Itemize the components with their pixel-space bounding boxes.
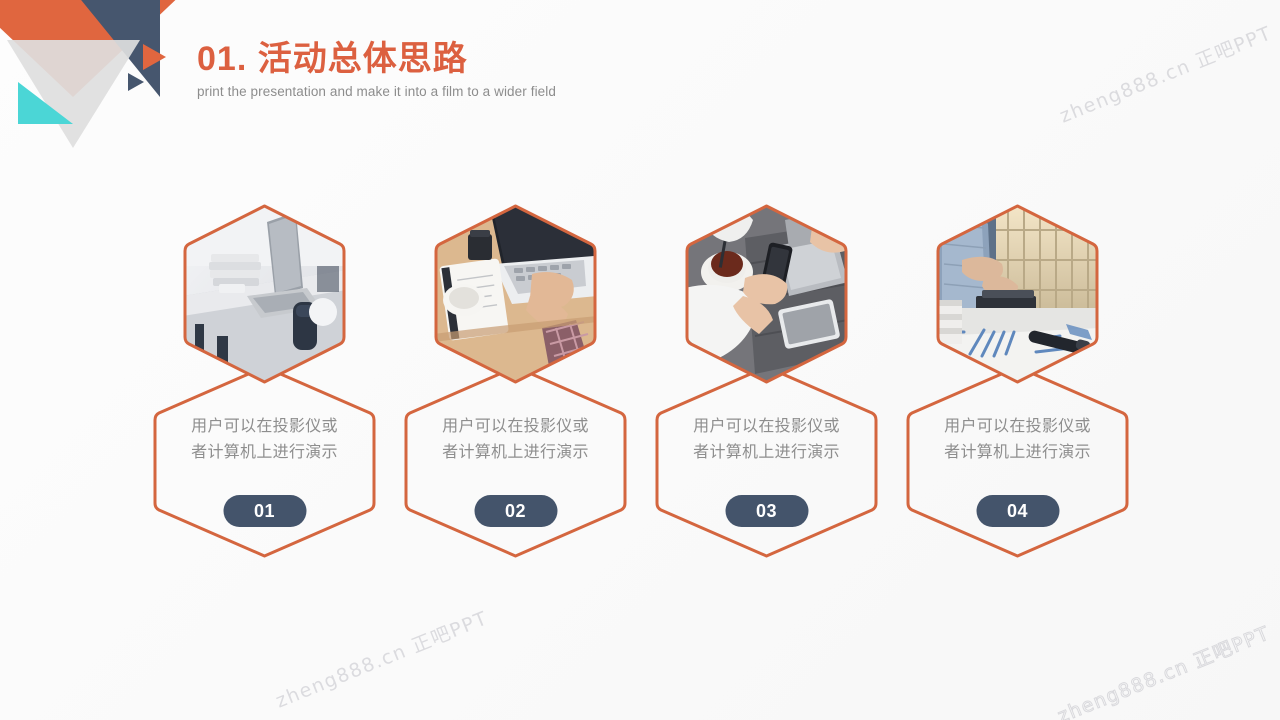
card-description-line-2: 者计算机上进行演示 [892,440,1143,466]
card-description-line-1: 用户可以在投影仪或 [641,414,892,440]
hexagon-card[interactable]: 用户可以在投影仪或 者计算机上进行演示 03 [641,196,892,566]
card-description: 用户可以在投影仪或 者计算机上进行演示 [892,414,1143,466]
card-description-line-1: 用户可以在投影仪或 [892,414,1143,440]
hexagon-card[interactable]: 用户可以在投影仪或 者计算机上进行演示 04 [892,196,1143,566]
card-photo-4 [936,204,1099,384]
card-description-line-2: 者计算机上进行演示 [139,440,390,466]
card-description: 用户可以在投影仪或 者计算机上进行演示 [139,414,390,466]
hexagon-photo-frame [685,204,848,384]
presentation-slide: 01. 活动总体思路 print the presentation and ma… [0,0,1280,720]
navy-arrow-small [128,73,144,91]
card-description: 用户可以在投影仪或 者计算机上进行演示 [641,414,892,466]
card-description-line-1: 用户可以在投影仪或 [139,414,390,440]
hexagon-card[interactable]: 用户可以在投影仪或 者计算机上进行演示 01 [139,196,390,566]
card-description: 用户可以在投影仪或 者计算机上进行演示 [390,414,641,466]
card-number-badge[interactable]: 01 [223,495,306,527]
card-photo-3 [685,204,848,384]
card-number-badge[interactable]: 03 [725,495,808,527]
card-number-badge[interactable]: 04 [976,495,1059,527]
watermark-bottom-left: zheng888.cn 正吧PPT [271,604,491,714]
page-title: 01. 活动总体思路 [197,40,556,79]
hexagon-card[interactable]: 用户可以在投影仪或 者计算机上进行演示 02 [390,196,641,566]
hexagon-photo-frame [936,204,1099,384]
card-description-line-1: 用户可以在投影仪或 [390,414,641,440]
card-photo-2 [434,204,597,384]
hexagon-card-list: 用户可以在投影仪或 者计算机上进行演示 01 [0,196,1280,566]
hexagon-photo-frame [183,204,346,384]
slide-header: 01. 活动总体思路 print the presentation and ma… [197,40,556,99]
page-subtitle: print the presentation and make it into … [197,84,556,99]
corner-triangles-graphic [0,0,230,150]
watermark-top-right: zheng888.cn 正吧PPT [1055,19,1275,129]
card-description-line-2: 者计算机上进行演示 [641,440,892,466]
watermark-bottom-right: zheng888.cn 正吧PPT [1053,619,1273,720]
card-description-line-2: 者计算机上进行演示 [390,440,641,466]
card-number-badge[interactable]: 02 [474,495,557,527]
card-photo-1 [183,204,346,384]
hexagon-photo-frame [434,204,597,384]
